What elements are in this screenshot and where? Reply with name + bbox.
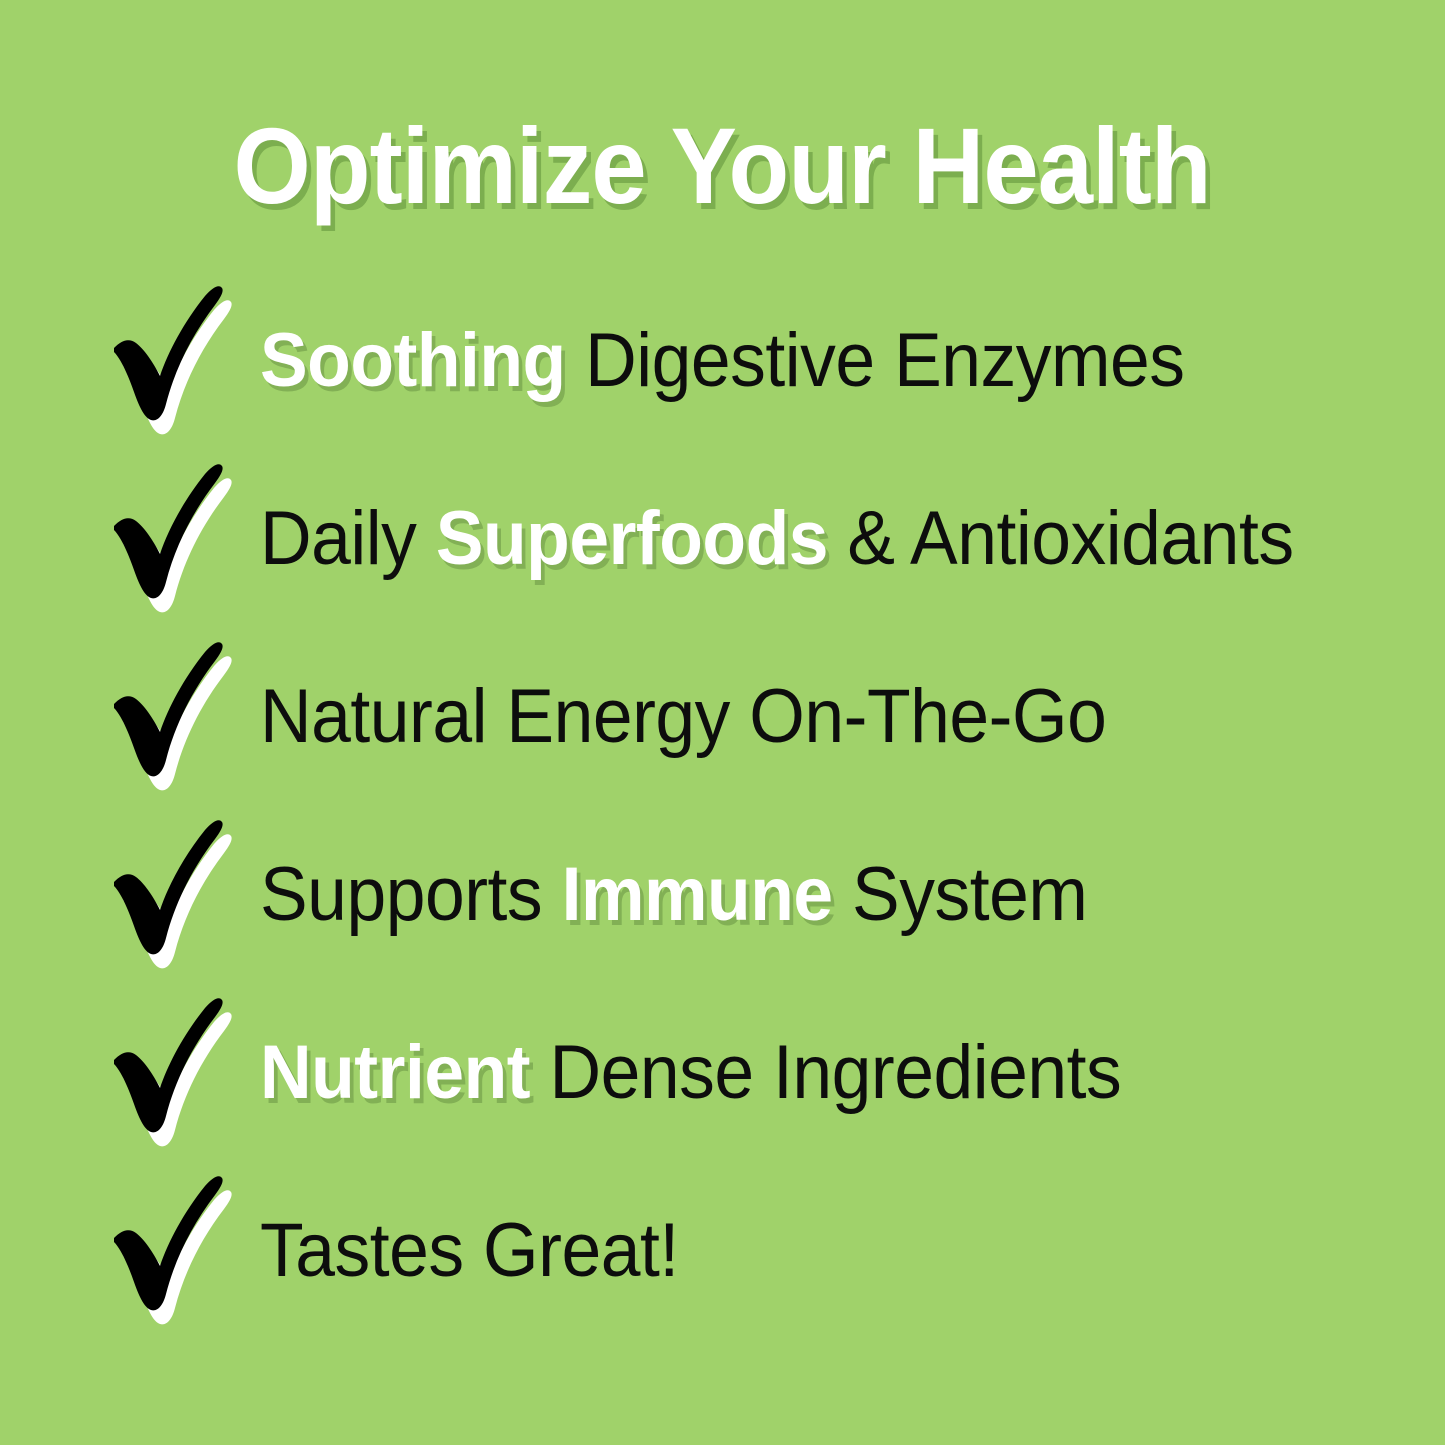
benefit-keyword: Superfoods: [436, 496, 828, 581]
benefit-row: Tastes Great!: [0, 1162, 1445, 1340]
checkmark-icon: [112, 1176, 240, 1326]
checkmark-icon: [112, 642, 240, 792]
benefit-text: Natural Energy On-The-Go: [260, 677, 1106, 757]
checkmark-icon: [112, 286, 240, 436]
benefit-row: Natural Energy On-The-Go: [0, 628, 1445, 806]
benefit-text-segment: Tastes Great!: [260, 1208, 679, 1293]
benefit-row: Nutrient Dense Ingredients: [0, 984, 1445, 1162]
benefit-list: Soothing Digestive EnzymesDaily Superfoo…: [0, 272, 1445, 1340]
checkmark-icon: [112, 820, 240, 970]
benefit-keyword: Soothing: [260, 318, 566, 403]
checkmark-icon: [112, 998, 240, 1148]
page-title-container: Optimize Your Health: [0, 112, 1445, 220]
benefit-text-segment: Digestive Enzymes: [566, 318, 1185, 403]
benefit-text-segment: Natural Energy On-The-Go: [260, 674, 1106, 759]
page-title: Optimize Your Health: [234, 112, 1211, 220]
benefit-text-segment: & Antioxidants: [828, 496, 1294, 581]
benefit-row: Supports Immune System: [0, 806, 1445, 984]
benefit-text: Tastes Great!: [260, 1211, 679, 1291]
benefit-text: Supports Immune System: [260, 855, 1087, 935]
benefits-poster: Optimize Your Health Soothing Digestive …: [0, 0, 1445, 1445]
checkmark-icon: [112, 464, 240, 614]
benefit-text-segment: Dense Ingredients: [530, 1030, 1121, 1115]
benefit-text: Nutrient Dense Ingredients: [260, 1033, 1121, 1113]
benefit-text-segment: Supports: [260, 852, 562, 937]
benefit-text-segment: Daily: [260, 496, 436, 581]
benefit-row: Soothing Digestive Enzymes: [0, 272, 1445, 450]
benefit-row: Daily Superfoods & Antioxidants: [0, 450, 1445, 628]
benefit-text-segment: System: [833, 852, 1088, 937]
benefit-keyword: Nutrient: [260, 1030, 530, 1115]
benefit-text: Soothing Digestive Enzymes: [260, 321, 1185, 401]
benefit-keyword: Immune: [562, 852, 833, 937]
benefit-text: Daily Superfoods & Antioxidants: [260, 499, 1294, 579]
